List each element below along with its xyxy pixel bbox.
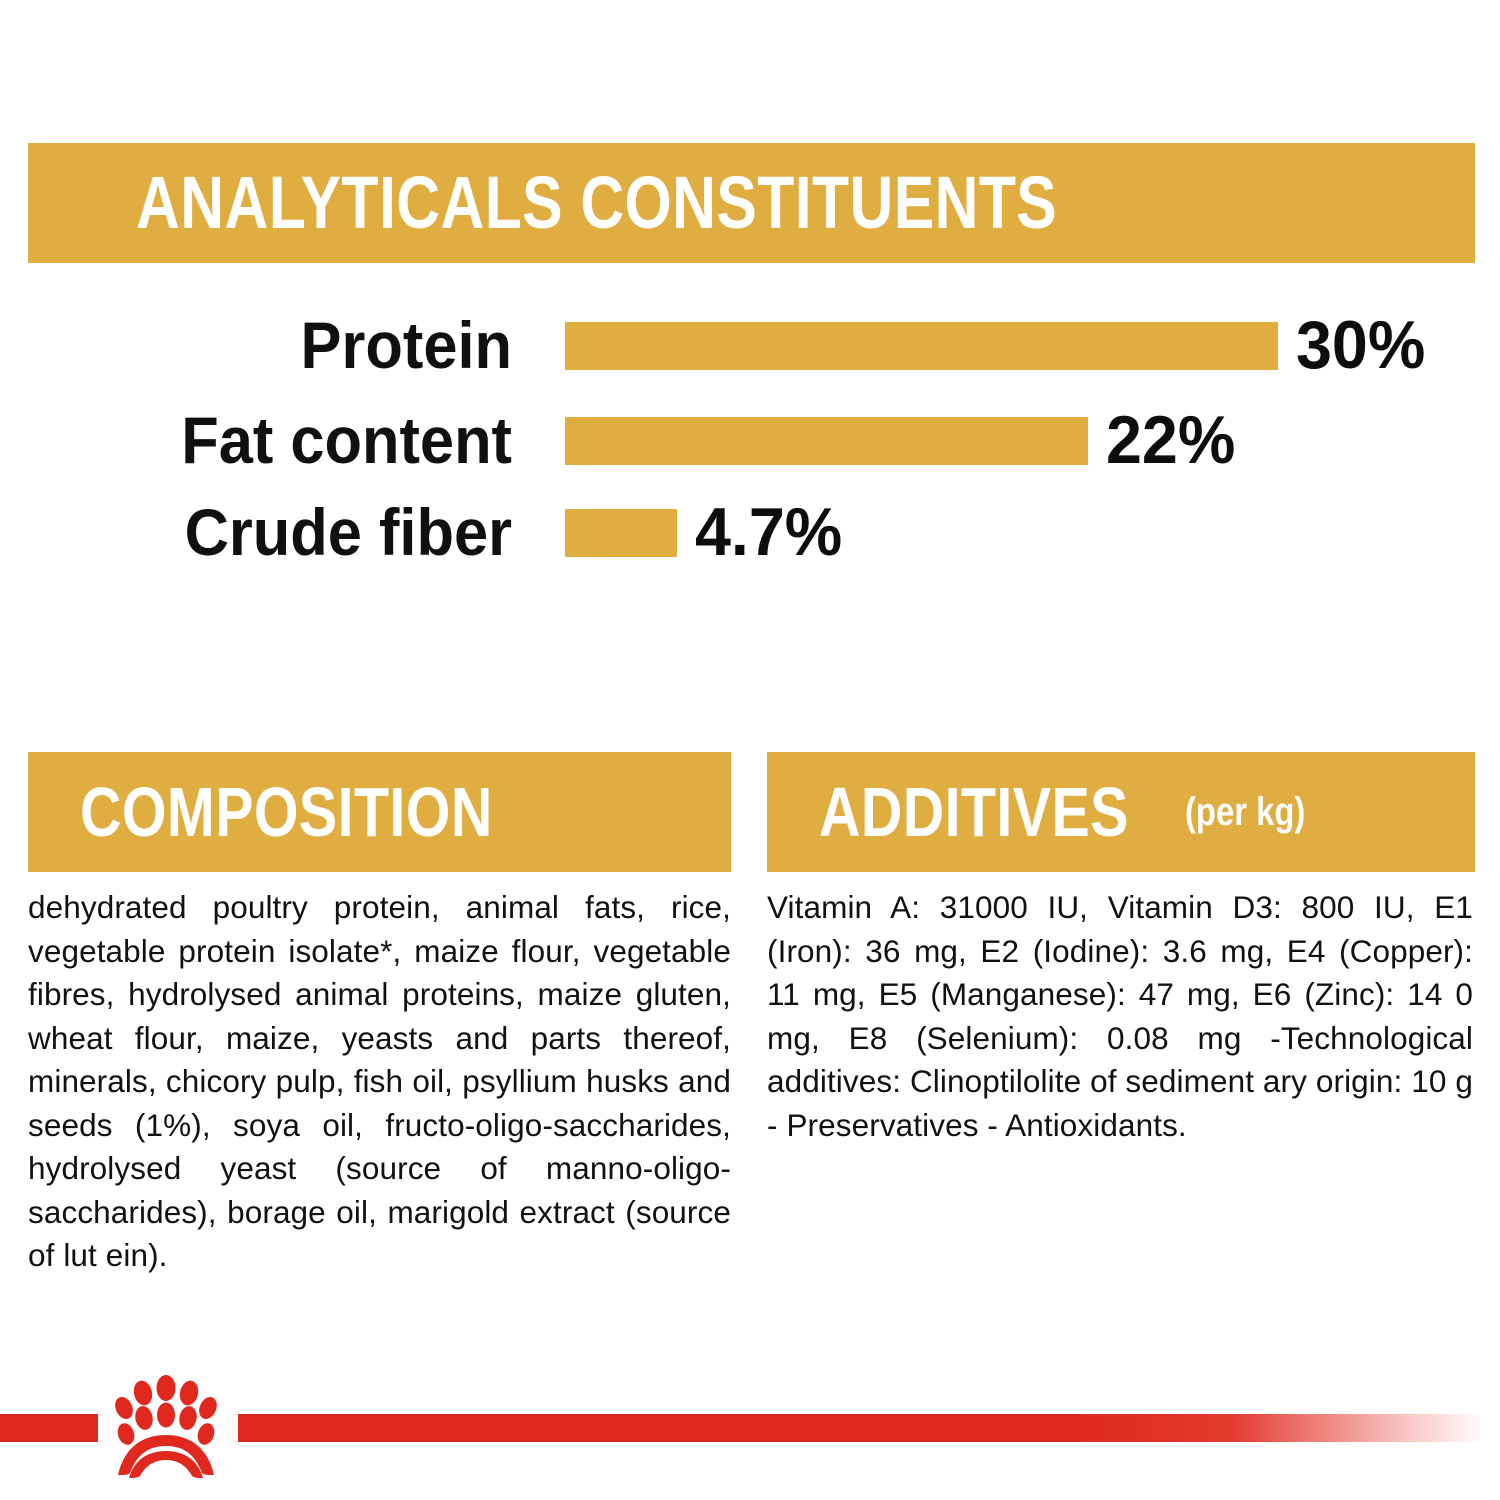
analyticals-bar-chart: Protein 30% Fat content 22% Crude fiber … <box>0 300 1500 570</box>
composition-panel: COMPOSITION dehydrated poultry protein, … <box>28 752 731 1278</box>
bar-row: Protein 30% <box>0 308 1500 382</box>
bar-row: Crude fiber 4.7% <box>0 495 1500 569</box>
analyticals-constituents-header-band: ANALYTICALS CONSTITUENTS <box>28 143 1475 263</box>
bar-label-fat-content: Fat content <box>92 403 512 477</box>
bar-fill-crude-fiber <box>565 509 677 557</box>
bar-track-fat-content <box>565 417 1088 465</box>
royal-canin-crown-icon <box>98 1374 234 1480</box>
additives-panel: ADDITIVES (per kg) Vitamin A: 31000 IU, … <box>767 752 1475 1147</box>
composition-title: COMPOSITION <box>80 777 493 847</box>
bar-fill-protein <box>565 322 1278 370</box>
additives-title: ADDITIVES <box>819 777 1129 847</box>
additives-subtitle: (per kg) <box>1185 792 1305 832</box>
additives-body-text: Vitamin A: 31000 IU, Vitamin D3: 800 IU,… <box>767 886 1475 1147</box>
analyticals-constituents-title: ANALYTICALS CONSTITUENTS <box>136 166 1057 240</box>
bar-row: Fat content 22% <box>0 403 1500 477</box>
bar-fill-fat-content <box>565 417 1088 465</box>
bar-value-crude-fiber: 4.7% <box>695 495 842 569</box>
bar-value-fat-content: 22% <box>1106 403 1235 477</box>
composition-body-text: dehydrated poultry protein, animal fats,… <box>28 886 731 1278</box>
bar-track-protein <box>565 322 1278 370</box>
bar-label-crude-fiber: Crude fiber <box>92 495 512 569</box>
bar-label-protein: Protein <box>92 308 512 382</box>
additives-header-band: ADDITIVES (per kg) <box>767 752 1475 872</box>
bar-value-protein: 30% <box>1296 308 1425 382</box>
bar-track-crude-fiber <box>565 509 677 557</box>
composition-header-band: COMPOSITION <box>28 752 731 872</box>
